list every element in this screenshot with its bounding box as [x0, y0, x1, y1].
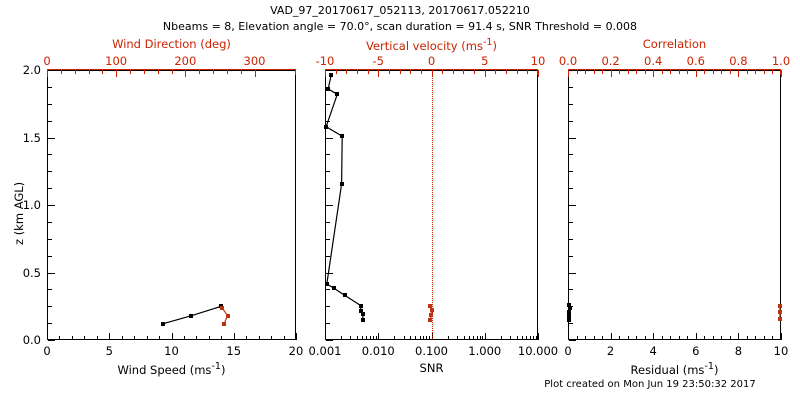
- x-axis-title-snr: SNR: [295, 361, 568, 375]
- x-minor-tick: [636, 336, 637, 340]
- y-minor-tick: [569, 138, 573, 139]
- x-minor-tick: [341, 336, 342, 340]
- y-minor-tick: [48, 171, 52, 172]
- x-tick-label-wind: 15: [204, 344, 264, 358]
- x-minor-tick: [772, 336, 773, 340]
- x-minor-tick: [394, 336, 395, 340]
- y-minor-tick: [569, 205, 573, 206]
- top-tick-label-snr: -5: [348, 54, 408, 68]
- y-minor-tick: [569, 239, 573, 240]
- top-minor-tick: [687, 70, 688, 74]
- top-minor-tick: [577, 70, 578, 74]
- x-minor-tick: [480, 336, 481, 340]
- data-point-wind: [161, 322, 165, 326]
- x-tick-wind: [172, 333, 173, 340]
- y-minor-tick: [569, 289, 573, 290]
- top-minor-tick: [772, 70, 773, 74]
- top-axis-title-residual: Correlation: [528, 37, 800, 51]
- top-minor-tick: [172, 70, 173, 74]
- x-minor-tick: [362, 336, 363, 340]
- data-point-wind: [226, 314, 230, 318]
- x-tick-label-wind: 5: [79, 344, 139, 358]
- x-minor-tick: [97, 336, 98, 340]
- x-minor-tick: [246, 336, 247, 340]
- x-minor-tick: [585, 336, 586, 340]
- y-minor-tick: [569, 273, 573, 274]
- top-minor-tick: [227, 70, 228, 74]
- x-tick-label-snr: 1.000: [455, 344, 515, 358]
- panel-frame-residual: [568, 70, 781, 340]
- data-point-snr: [430, 308, 434, 312]
- top-tick-snr: [538, 70, 539, 77]
- x-tick-snr: [485, 333, 486, 340]
- x-minor-tick: [423, 336, 424, 340]
- top-minor-tick: [495, 70, 496, 74]
- figure-canvas: VAD_97_20170617_052113, 20170617.052210 …: [0, 0, 800, 400]
- x-minor-tick: [670, 336, 671, 340]
- y-minor-tick: [48, 104, 52, 105]
- x-minor-tick: [357, 336, 358, 340]
- top-minor-tick: [421, 70, 422, 74]
- y-minor-tick: [48, 154, 52, 155]
- x-minor-tick: [764, 336, 765, 340]
- data-point-residual: [778, 304, 782, 308]
- top-tick-label-snr: 5: [455, 54, 515, 68]
- data-point-snr: [340, 182, 344, 186]
- y-minor-tick: [326, 154, 330, 155]
- x-tick-residual: [568, 333, 569, 340]
- x-minor-tick: [469, 336, 470, 340]
- y-minor-tick: [326, 256, 330, 257]
- top-tick-residual: [696, 70, 697, 77]
- y-minor-tick: [569, 104, 573, 105]
- top-minor-tick: [764, 70, 765, 74]
- x-minor-tick: [448, 336, 449, 340]
- top-minor-tick: [130, 70, 131, 74]
- x-minor-tick: [530, 336, 531, 340]
- x-minor-tick: [429, 336, 430, 340]
- y-tick: [48, 70, 55, 71]
- top-tick-residual: [738, 70, 739, 77]
- x-minor-tick: [501, 336, 502, 340]
- data-point-snr: [325, 282, 329, 286]
- x-tick-wind: [234, 333, 235, 340]
- top-tick-residual: [568, 70, 569, 77]
- top-minor-tick: [61, 70, 62, 74]
- x-minor-tick: [376, 336, 377, 340]
- y-minor-tick: [48, 306, 52, 307]
- x-minor-tick: [687, 336, 688, 340]
- y-minor-tick: [326, 205, 330, 206]
- y-minor-tick: [569, 340, 573, 341]
- x-minor-tick: [59, 336, 60, 340]
- x-minor-tick: [284, 336, 285, 340]
- top-minor-tick: [585, 70, 586, 74]
- y-minor-tick: [326, 222, 330, 223]
- top-tick-wind: [47, 70, 48, 77]
- top-minor-tick: [336, 70, 337, 74]
- x-minor-tick: [594, 336, 595, 340]
- x-minor-tick: [619, 336, 620, 340]
- y-tick-label: 0.5: [1, 266, 41, 280]
- x-minor-tick: [271, 336, 272, 340]
- y-minor-tick: [48, 273, 52, 274]
- y-minor-tick: [569, 171, 573, 172]
- top-minor-tick: [463, 70, 464, 74]
- y-minor-tick: [48, 323, 52, 324]
- x-tick-label-wind: 10: [142, 344, 202, 358]
- top-minor-tick: [662, 70, 663, 74]
- y-tick-label: 0.0: [1, 333, 41, 347]
- top-minor-tick: [357, 70, 358, 74]
- x-axis-title-wind: Wind Speed (ms-1): [17, 361, 326, 377]
- x-minor-tick: [370, 336, 371, 340]
- top-minor-tick: [704, 70, 705, 74]
- x-minor-tick: [662, 336, 663, 340]
- x-minor-tick: [517, 336, 518, 340]
- x-minor-tick: [221, 336, 222, 340]
- top-tick-residual: [653, 70, 654, 77]
- x-tick-residual: [611, 333, 612, 340]
- y-minor-tick: [48, 121, 52, 122]
- top-minor-tick: [755, 70, 756, 74]
- data-point-snr: [361, 312, 365, 316]
- top-minor-tick: [89, 70, 90, 74]
- x-minor-tick: [464, 336, 465, 340]
- figure-subtitle: Nbeams = 8, Elevation angle = 70.0°, sca…: [0, 20, 800, 33]
- top-tick-wind: [116, 70, 117, 77]
- top-tick-snr: [325, 70, 326, 77]
- y-minor-tick: [569, 188, 573, 189]
- x-minor-tick: [721, 336, 722, 340]
- top-tick-label-wind: 300: [225, 54, 285, 68]
- top-minor-tick: [102, 70, 103, 74]
- data-point-wind: [222, 322, 226, 326]
- data-point-snr: [329, 73, 333, 77]
- y-minor-tick: [326, 171, 330, 172]
- y-tick: [326, 70, 333, 71]
- x-minor-tick: [755, 336, 756, 340]
- data-point-snr: [340, 134, 344, 138]
- x-minor-tick: [184, 336, 185, 340]
- x-tick-label-snr: 0.001: [295, 344, 355, 358]
- y-minor-tick: [569, 222, 573, 223]
- x-minor-tick: [482, 336, 483, 340]
- data-point-residual: [778, 317, 782, 321]
- panel-frame-wind: [47, 70, 296, 340]
- top-minor-tick: [517, 70, 518, 74]
- y-minor-tick: [48, 239, 52, 240]
- x-minor-tick: [426, 336, 427, 340]
- x-minor-tick: [713, 336, 714, 340]
- x-tick-label-snr: 0.010: [348, 344, 408, 358]
- y-minor-tick: [48, 205, 52, 206]
- top-minor-tick: [453, 70, 454, 74]
- x-tick-label-snr: 0.100: [402, 344, 462, 358]
- data-point-wind: [189, 314, 193, 318]
- y-minor-tick: [569, 154, 573, 155]
- y-minor-tick: [326, 138, 330, 139]
- top-minor-tick: [594, 70, 595, 74]
- data-point-snr: [343, 293, 347, 297]
- top-minor-tick: [628, 70, 629, 74]
- data-point-snr: [428, 318, 432, 322]
- x-tick-snr: [378, 333, 379, 340]
- data-point-snr: [335, 92, 339, 96]
- top-minor-tick: [645, 70, 646, 74]
- top-tick-residual: [611, 70, 612, 77]
- x-minor-tick: [473, 336, 474, 340]
- data-point-snr: [429, 313, 433, 317]
- y-tick: [569, 70, 576, 71]
- top-tick-label-wind: 200: [155, 54, 215, 68]
- top-minor-tick: [619, 70, 620, 74]
- y-minor-tick: [326, 340, 330, 341]
- y-tick-label: 1.0: [1, 198, 41, 212]
- x-minor-tick: [122, 336, 123, 340]
- x-minor-tick: [410, 336, 411, 340]
- x-minor-tick: [645, 336, 646, 340]
- y-minor-tick: [569, 121, 573, 122]
- top-minor-tick: [721, 70, 722, 74]
- x-minor-tick: [196, 336, 197, 340]
- top-minor-tick: [747, 70, 748, 74]
- top-tick-label-residual: 1.0: [751, 54, 800, 68]
- data-point-snr: [332, 286, 336, 290]
- top-minor-tick: [144, 70, 145, 74]
- x-minor-tick: [373, 336, 374, 340]
- x-minor-tick: [209, 336, 210, 340]
- top-minor-tick: [730, 70, 731, 74]
- y-minor-tick: [569, 323, 573, 324]
- x-tick-wind: [296, 333, 297, 340]
- x-tick-residual: [653, 333, 654, 340]
- x-tick-residual: [781, 333, 782, 340]
- y-minor-tick: [569, 87, 573, 88]
- x-minor-tick: [704, 336, 705, 340]
- top-minor-tick: [602, 70, 603, 74]
- top-axis-frame-residual: [568, 69, 781, 75]
- x-minor-tick: [159, 336, 160, 340]
- y-minor-tick: [48, 256, 52, 257]
- x-minor-tick: [628, 336, 629, 340]
- x-minor-tick: [533, 336, 534, 340]
- x-minor-tick: [350, 336, 351, 340]
- y-tick-label: 1.5: [1, 131, 41, 145]
- top-tick-residual: [781, 70, 782, 77]
- y-minor-tick: [569, 256, 573, 257]
- x-tick-snr: [538, 333, 539, 340]
- x-minor-tick: [366, 336, 367, 340]
- x-minor-tick: [404, 336, 405, 340]
- top-minor-tick: [410, 70, 411, 74]
- x-minor-tick: [415, 336, 416, 340]
- x-minor-tick: [477, 336, 478, 340]
- y-minor-tick: [326, 323, 330, 324]
- top-minor-tick: [713, 70, 714, 74]
- x-minor-tick: [510, 336, 511, 340]
- top-minor-tick: [158, 70, 159, 74]
- x-minor-tick: [536, 336, 537, 340]
- y-axis-title: z (km AGL): [12, 182, 26, 245]
- y-minor-tick: [326, 289, 330, 290]
- top-tick-label-snr: 0: [402, 54, 462, 68]
- y-minor-tick: [326, 121, 330, 122]
- top-minor-tick: [506, 70, 507, 74]
- y-minor-tick: [326, 273, 330, 274]
- data-point-wind: [220, 306, 224, 310]
- top-minor-tick: [400, 70, 401, 74]
- x-minor-tick: [84, 336, 85, 340]
- x-minor-tick: [147, 336, 148, 340]
- data-point-snr: [324, 125, 328, 129]
- x-minor-tick: [522, 336, 523, 340]
- data-point-residual: [567, 318, 571, 322]
- x-minor-tick: [72, 336, 73, 340]
- data-point-snr: [359, 304, 363, 308]
- x-minor-tick: [420, 336, 421, 340]
- top-minor-tick: [389, 70, 390, 74]
- x-minor-tick: [602, 336, 603, 340]
- top-minor-tick: [368, 70, 369, 74]
- x-tick-residual: [696, 333, 697, 340]
- x-minor-tick: [259, 336, 260, 340]
- data-point-snr: [361, 318, 365, 322]
- y-minor-tick: [326, 188, 330, 189]
- top-minor-tick: [75, 70, 76, 74]
- top-minor-tick: [527, 70, 528, 74]
- y-minor-tick: [48, 222, 52, 223]
- y-minor-tick: [48, 138, 52, 139]
- y-minor-tick: [326, 104, 330, 105]
- top-minor-tick: [199, 70, 200, 74]
- data-point-residual: [778, 310, 782, 314]
- x-axis-title-residual: Residual (ms-1): [538, 361, 800, 377]
- plot-footer: Plot created on Mon Jun 19 23:50:32 2017: [500, 379, 800, 390]
- top-minor-tick: [679, 70, 680, 74]
- y-minor-tick: [48, 87, 52, 88]
- top-tick-label-wind: 100: [86, 54, 146, 68]
- x-tick-label-residual: 10: [751, 344, 800, 358]
- top-minor-tick: [346, 70, 347, 74]
- top-minor-tick: [213, 70, 214, 74]
- figure-title: VAD_97_20170617_052113, 20170617.052210: [0, 4, 800, 17]
- top-minor-tick: [474, 70, 475, 74]
- y-minor-tick: [326, 239, 330, 240]
- top-tick-wind: [185, 70, 186, 77]
- y-minor-tick: [48, 340, 52, 341]
- y-minor-tick: [48, 289, 52, 290]
- top-minor-tick: [241, 70, 242, 74]
- x-minor-tick: [457, 336, 458, 340]
- x-tick-wind: [109, 333, 110, 340]
- x-minor-tick: [730, 336, 731, 340]
- top-tick-snr: [485, 70, 486, 77]
- y-minor-tick: [326, 306, 330, 307]
- top-tick-snr: [378, 70, 379, 77]
- x-minor-tick: [679, 336, 680, 340]
- top-tick-label-snr: -10: [295, 54, 355, 68]
- x-minor-tick: [747, 336, 748, 340]
- top-minor-tick: [442, 70, 443, 74]
- reference-vline-snr: [432, 71, 433, 339]
- top-minor-tick: [670, 70, 671, 74]
- x-minor-tick: [134, 336, 135, 340]
- x-tick-wind: [47, 333, 48, 340]
- y-minor-tick: [48, 188, 52, 189]
- top-tick-wind: [255, 70, 256, 77]
- x-tick-snr: [325, 333, 326, 340]
- top-minor-tick: [636, 70, 637, 74]
- data-point-snr: [326, 87, 330, 91]
- x-minor-tick: [526, 336, 527, 340]
- y-tick-label: 2.0: [1, 63, 41, 77]
- x-minor-tick: [577, 336, 578, 340]
- x-tick-residual: [738, 333, 739, 340]
